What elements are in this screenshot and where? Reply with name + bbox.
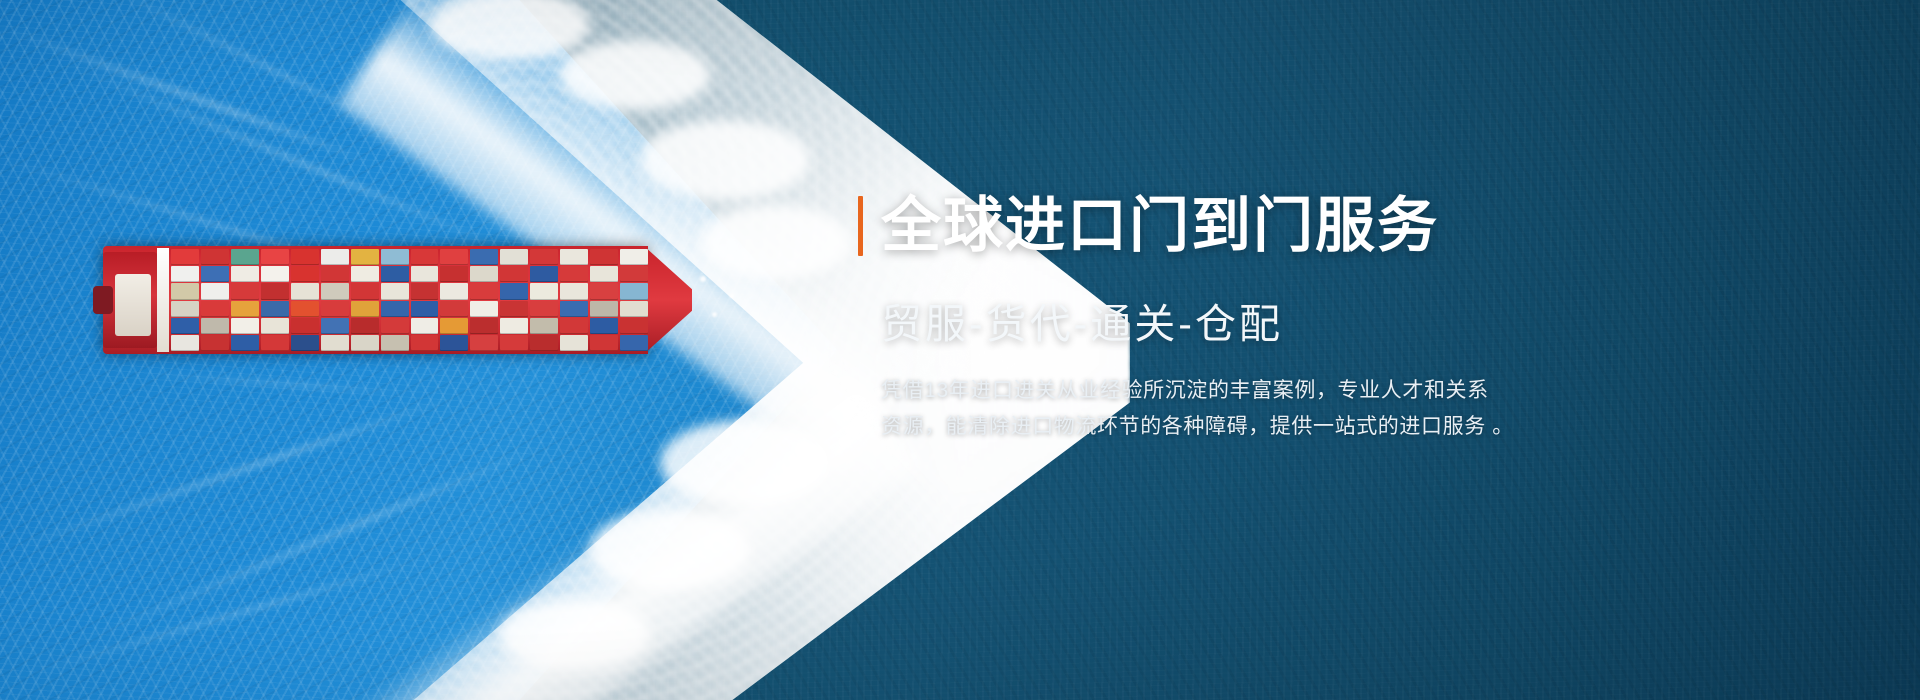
- accent-bar: [858, 196, 863, 256]
- banner-description: 凭借13年进口进关从业经验所沉淀的丰富案例，专业人才和关系 资源，能清除进口物流…: [881, 373, 1591, 445]
- banner-title: 全球进口门到门服务: [881, 196, 1439, 256]
- banner-content: 全球进口门到门服务 贸服-货代-通关-仓配 凭借13年进口进关从业经验所沉淀的丰…: [858, 196, 1678, 445]
- description-line: 凭借13年进口进关从业经验所沉淀的丰富案例，专业人才和关系: [881, 373, 1591, 409]
- title-row: 全球进口门到门服务: [858, 196, 1678, 256]
- banner-subtitle: 贸服-货代-通关-仓配: [881, 302, 1678, 347]
- hero-banner: 全球进口门到门服务 贸服-货代-通关-仓配 凭借13年进口进关从业经验所沉淀的丰…: [0, 0, 1920, 700]
- description-line: 资源，能清除进口物流环节的各种障碍，提供一站式的进口服务 。: [881, 409, 1591, 445]
